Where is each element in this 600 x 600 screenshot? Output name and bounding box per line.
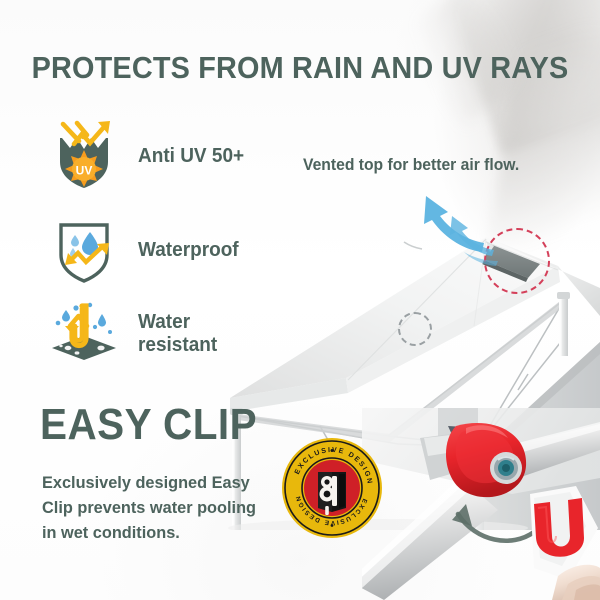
- water-resistant-surface-icon: [46, 296, 122, 372]
- feature-label: Water resistant: [138, 311, 217, 357]
- easy-clip-photo: [362, 408, 600, 600]
- vent-caption: Vented top for better air flow.: [303, 155, 519, 175]
- exclusive-design-seal: EXCLUSIVE DESIGN EXCLUSIVE DESIGN: [282, 438, 382, 538]
- frame-highlight-circle: [398, 312, 432, 346]
- easy-clip-body: Exclusively designed Easy Clip prevents …: [42, 470, 272, 545]
- infographic-canvas: PROTECTS FROM RAIN AND UV RAYS UV: [0, 0, 600, 600]
- feature-row: UV Anti UV 50+: [46, 118, 250, 194]
- feature-label: Waterproof: [138, 239, 239, 262]
- uv-badge-text: UV: [76, 164, 93, 178]
- feature-row: Water resistant: [46, 296, 221, 372]
- feature-label: Anti UV 50+: [138, 145, 244, 168]
- page-title: PROTECTS FROM RAIN AND UV RAYS: [21, 50, 579, 86]
- uv-shield-icon: UV: [46, 118, 122, 194]
- easy-clip-title: EASY CLIP: [40, 400, 257, 450]
- airflow-arrows: [396, 188, 516, 278]
- feature-row: Waterproof: [46, 212, 244, 288]
- waterproof-shield-icon: [46, 212, 122, 288]
